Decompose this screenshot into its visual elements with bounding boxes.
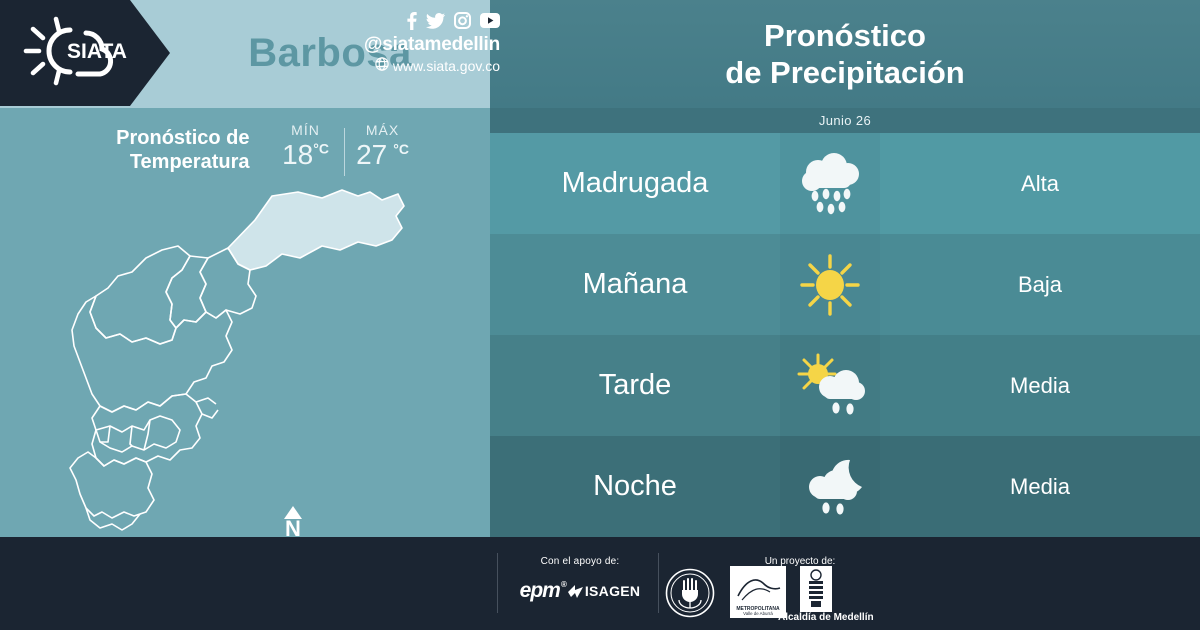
map-region-barbosa [228, 190, 404, 270]
temperature-min-label: MÍN [268, 122, 344, 138]
sun-rain-cloud-icon [780, 335, 880, 436]
instagram-icon[interactable] [454, 12, 471, 34]
area-line2: Valle de Aburrá [743, 611, 773, 616]
temperature-min: MÍN 18°C [268, 122, 344, 171]
period-label: Mañana [490, 234, 780, 335]
left-panel: SIATA Barbosa Pronóstico de Temperatura … [0, 0, 490, 537]
alcaldia-label: Alcaldía de Medellín [778, 612, 958, 623]
precipitation-header: Pronóstico de Precipitación [490, 0, 1200, 108]
temperature-min-value-wrap: 18°C [268, 139, 344, 171]
footer-divider-2 [658, 553, 659, 613]
temperature-title-line2: Temperatura [130, 151, 250, 173]
right-panel: Pronóstico de Precipitación Junio 26 Mad… [490, 0, 1200, 537]
temperature-max: MÁX 27°C [345, 122, 421, 171]
precipitation-level: Baja [880, 234, 1200, 335]
website-link[interactable]: www.siata.gov.co [330, 57, 500, 74]
north-arrow-icon: N [276, 506, 310, 539]
precipitation-level: Media [880, 436, 1200, 537]
table-row: Mañana [490, 234, 1200, 335]
globe-icon [375, 57, 389, 74]
support-logos: epm® ISAGEN [510, 579, 650, 603]
facebook-icon[interactable] [406, 12, 417, 35]
temperature-max-value-wrap: 27°C [345, 139, 421, 171]
sun-cloud-icon: SIATA [12, 13, 130, 94]
twitter-icon[interactable] [426, 13, 445, 34]
temperature-max-unit: °C [393, 141, 409, 157]
support-caption: Con el apoyo de: [510, 556, 650, 567]
aburra-valley-map: N [0, 180, 490, 537]
epm-mark: ® [561, 580, 566, 589]
epm-logo: epm® [520, 579, 560, 603]
temperature-title-line1: Pronóstico de [116, 127, 249, 149]
temperature-title: Pronóstico de Temperatura [70, 118, 250, 175]
table-row: Noche Media [490, 436, 1200, 537]
temperature-min-value: 18 [282, 139, 313, 170]
epm-name: epm [520, 579, 560, 602]
period-label: Madrugada [490, 133, 780, 234]
isagen-name: ISAGEN [585, 583, 640, 599]
north-label: N [276, 519, 310, 539]
footer-divider-1 [497, 553, 498, 613]
social-icons [330, 14, 500, 32]
table-row: Tarde [490, 335, 1200, 436]
precipitation-title-line1: Pronóstico [764, 18, 926, 53]
temperature-max-value: 27 [356, 139, 387, 170]
period-label: Noche [490, 436, 780, 537]
sun-icon [780, 234, 880, 335]
alcaldia-medellin-logo [800, 566, 832, 612]
udea-seal-logo [665, 568, 715, 618]
isagen-logo: ISAGEN [568, 583, 640, 599]
svg-text:SIATA: SIATA [67, 40, 127, 63]
youtube-icon[interactable] [480, 13, 500, 33]
weather-forecast-poster: SIATA Barbosa Pronóstico de Temperatura … [0, 0, 1200, 630]
social-handle[interactable]: @siatamedellin [330, 34, 500, 56]
temperature-block: Pronóstico de Temperatura MÍN 18°C MÁX 2… [0, 118, 490, 188]
table-row: Madrugada Alta [490, 133, 1200, 234]
period-label: Tarde [490, 335, 780, 436]
precipitation-level: Media [880, 335, 1200, 436]
social-block: @siatamedellin www.siata.gov.co [330, 14, 500, 74]
temperature-max-label: MÁX [345, 122, 421, 138]
temperature-min-unit: °C [313, 141, 329, 157]
forecast-date: Junio 26 [490, 108, 1200, 133]
precipitation-title-line2: de Precipitación [725, 55, 964, 90]
precipitation-level: Alta [880, 133, 1200, 234]
heavy-rain-cloud-icon [780, 133, 880, 234]
precipitation-table: Madrugada Alta [490, 133, 1200, 537]
support-block: Con el apoyo de: epm® ISAGEN [510, 556, 650, 603]
precipitation-title: Pronóstico de Precipitación [725, 17, 964, 91]
area-metropolitana-logo: METROPOLITANA Valle de Aburrá [730, 566, 786, 618]
temperature-values: MÍN 18°C MÁX 27°C [268, 118, 421, 176]
website-text: www.siata.gov.co [393, 58, 500, 74]
moon-rain-cloud-icon [780, 436, 880, 537]
